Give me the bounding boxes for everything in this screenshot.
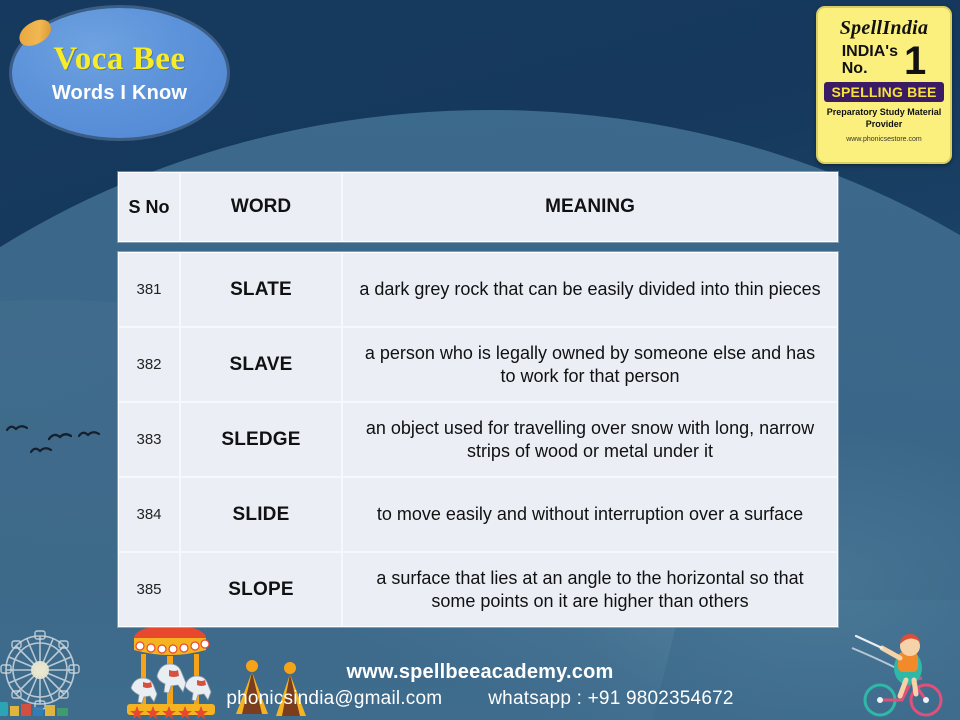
cell-s-no: 382 — [136, 356, 161, 373]
flying-birds-icon — [78, 430, 100, 439]
flying-birds-icon — [6, 424, 28, 433]
badge-subtitle: Preparatory Study Material Provider — [818, 107, 950, 130]
badge-rank-line1: INDIA's — [842, 44, 898, 61]
cell-word: SLOPE — [228, 579, 293, 601]
cell-s-no: 383 — [136, 431, 161, 448]
spellindia-badge: SpellIndia INDIA's No. 1 SPELLING BEE Pr… — [816, 6, 952, 164]
cell-word: SLIDE — [233, 504, 290, 526]
slide-background: Voca Bee Words I Know SpellIndia INDIA's… — [0, 0, 960, 720]
cell-meaning: a dark grey rock that can be easily divi… — [359, 278, 820, 301]
logo-subtitle: Words I Know — [52, 82, 187, 105]
badge-rank-line2: No. — [842, 61, 898, 78]
header-meaning: MEANING — [545, 196, 635, 218]
cell-meaning: a surface that lies at an angle to the h… — [357, 567, 823, 612]
table-row: 383 SLEDGE an object used for travelling… — [119, 403, 837, 478]
cell-s-no: 384 — [136, 506, 161, 523]
word-table: S No WORD MEANING 381 SLATE a dark grey … — [118, 172, 838, 627]
cell-meaning: a person who is legally owned by someone… — [357, 342, 823, 387]
cell-meaning: an object used for travelling over snow … — [357, 417, 823, 462]
badge-rank: INDIA's No. 1 — [818, 44, 950, 78]
badge-spelling-bee-bar: SPELLING BEE — [824, 82, 943, 102]
table-row: 385 SLOPE a surface that lies at an angl… — [119, 553, 837, 626]
header-word: WORD — [231, 196, 291, 218]
cell-s-no: 385 — [136, 581, 161, 598]
footer-contact: www.spellbeeacademy.com phonicsindia@gma… — [0, 661, 960, 710]
footer-website: www.spellbeeacademy.com — [347, 661, 614, 684]
table-body: 381 SLATE a dark grey rock that can be e… — [118, 252, 838, 627]
footer-email: phonicsindia@gmail.com — [226, 688, 442, 710]
table-row: 384 SLIDE to move easily and without int… — [119, 478, 837, 553]
badge-brand: SpellIndia — [840, 17, 929, 40]
cell-word: SLEDGE — [221, 429, 300, 451]
flying-birds-icon — [48, 432, 70, 441]
cell-word: SLAVE — [230, 354, 293, 376]
cell-s-no: 381 — [136, 281, 161, 298]
badge-url: www.phonicsestore.com — [846, 136, 921, 143]
cell-meaning: to move easily and without interruption … — [377, 503, 803, 526]
badge-rank-number: 1 — [904, 44, 926, 78]
footer-whatsapp: whatsapp : +91 9802354672 — [488, 688, 733, 710]
table-header-row: S No WORD MEANING — [118, 172, 838, 242]
table-row: 382 SLAVE a person who is legally owned … — [119, 328, 837, 403]
header-s-no: S No — [128, 197, 169, 218]
logo-title: Voca Bee — [53, 41, 185, 78]
cell-word: SLATE — [230, 279, 292, 301]
table-row: 381 SLATE a dark grey rock that can be e… — [119, 253, 837, 328]
flying-birds-icon — [30, 446, 52, 455]
